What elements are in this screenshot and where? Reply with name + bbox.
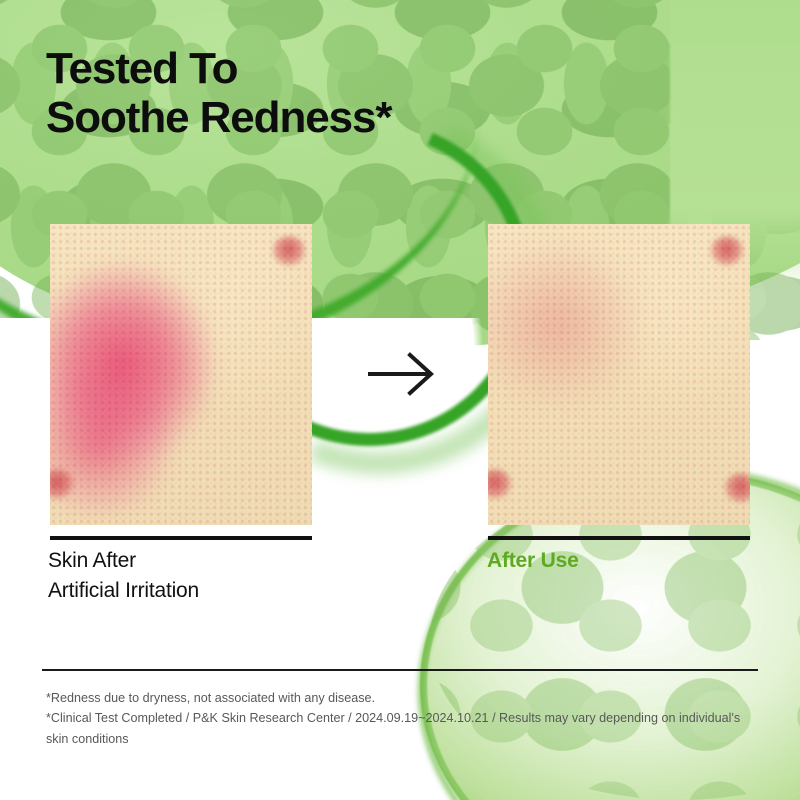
skin-grain-texture xyxy=(488,224,750,525)
right-arrow-icon xyxy=(368,352,442,396)
page-title: Tested To Soothe Redness* xyxy=(46,44,391,143)
caption-before: Skin After Artificial Irritation xyxy=(48,546,199,606)
caption-after: After Use xyxy=(487,546,579,576)
skin-photo-before xyxy=(50,224,312,525)
footnote-text: *Redness due to dryness, not associated … xyxy=(46,688,762,749)
marketing-banner: Tested To Soothe Redness* Skin After Art… xyxy=(0,0,800,800)
caption-rule-before xyxy=(50,536,312,540)
skin-photo-after xyxy=(488,224,750,525)
footer-divider xyxy=(42,669,758,671)
caption-rule-after xyxy=(488,536,750,540)
skin-grain-texture xyxy=(50,224,312,525)
